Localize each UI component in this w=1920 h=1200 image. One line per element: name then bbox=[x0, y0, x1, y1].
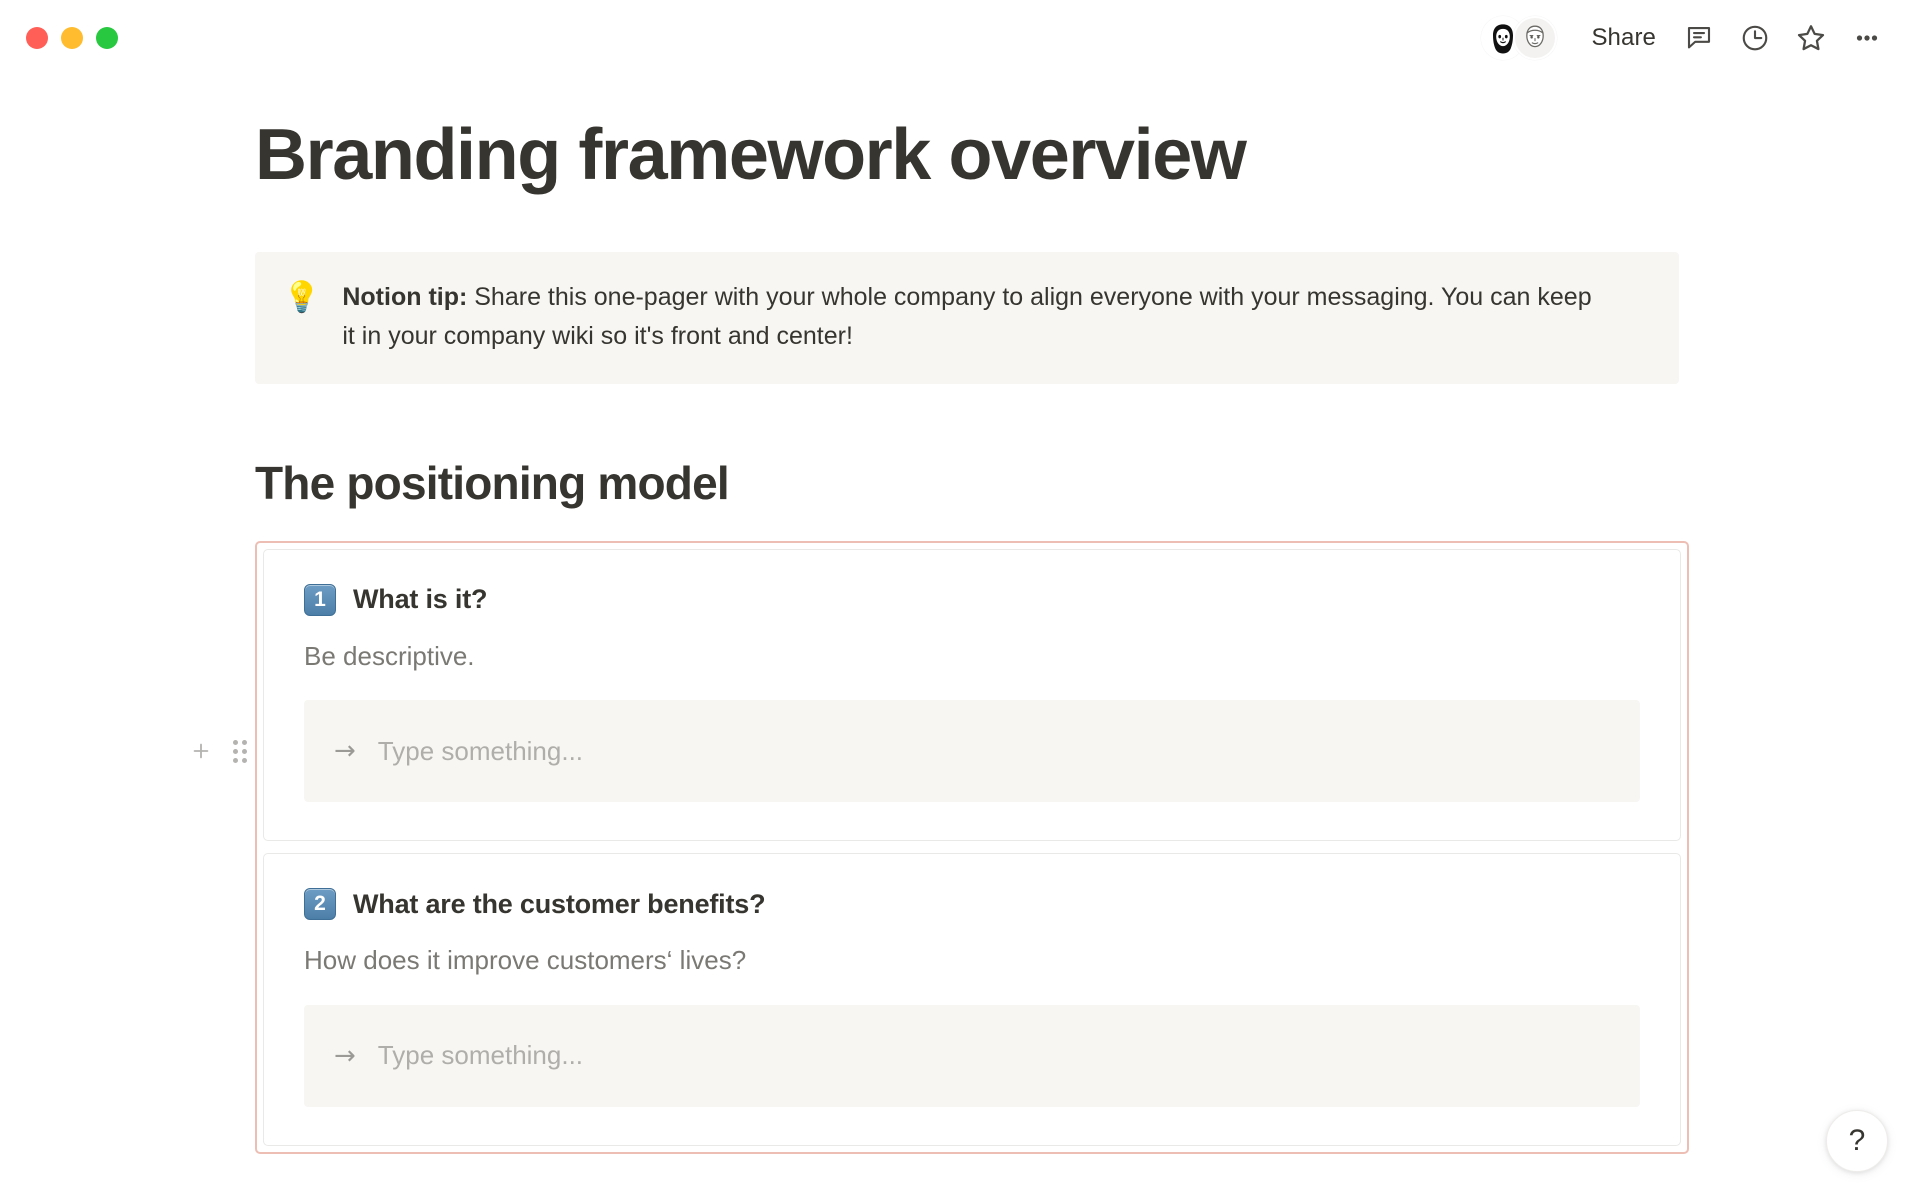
callout-block[interactable]: 💡 Notion tip: Share this one-pager with … bbox=[255, 252, 1679, 384]
document-content: Branding framework overview 💡 Notion tip… bbox=[255, 118, 1695, 1154]
lightbulb-icon: 💡 bbox=[283, 279, 320, 317]
more-icon[interactable] bbox=[1842, 16, 1892, 60]
collaborator-avatars[interactable] bbox=[1481, 16, 1557, 60]
title-bar-actions: Share bbox=[1481, 16, 1892, 60]
callout-lead: Notion tip: bbox=[342, 283, 467, 311]
add-block-button[interactable] bbox=[186, 736, 216, 766]
synced-block-container[interactable]: 1 What is it? Be descriptive. bbox=[255, 541, 1689, 1154]
help-button[interactable]: ? bbox=[1826, 1110, 1888, 1172]
question-subtitle[interactable]: How does it improve customers‘ lives? bbox=[304, 942, 1640, 978]
callout-body: Share this one-pager with your whole com… bbox=[342, 283, 1591, 350]
app-window: Share bbox=[0, 0, 1920, 1200]
history-icon[interactable] bbox=[1730, 16, 1780, 60]
comment-icon[interactable] bbox=[1674, 16, 1724, 60]
question-header: 1 What is it? bbox=[304, 584, 1640, 616]
section-heading[interactable]: The positioning model bbox=[255, 456, 1695, 511]
answer-placeholder[interactable]: Type something... bbox=[378, 736, 583, 767]
question-title[interactable]: What is it? bbox=[353, 584, 487, 615]
question-card[interactable]: 2 What are the customer benefits? How do… bbox=[263, 853, 1681, 1145]
question-title[interactable]: What are the customer benefits? bbox=[353, 889, 765, 920]
document-scroll-area[interactable]: Branding framework overview 💡 Notion tip… bbox=[0, 76, 1920, 1200]
title-bar: Share bbox=[0, 0, 1920, 76]
callout-text: Notion tip: Share this one-pager with yo… bbox=[342, 278, 1602, 356]
number-badge-icon: 1 bbox=[304, 584, 336, 616]
drag-handle-icon[interactable] bbox=[228, 736, 252, 766]
star-icon[interactable] bbox=[1786, 16, 1836, 60]
avatar-user-2[interactable] bbox=[1513, 16, 1557, 60]
number-badge-icon: 2 bbox=[304, 888, 336, 920]
window-close-button[interactable] bbox=[26, 27, 48, 49]
answer-placeholder[interactable]: Type something... bbox=[378, 1040, 583, 1071]
question-subtitle[interactable]: Be descriptive. bbox=[304, 638, 1640, 674]
question-header: 2 What are the customer benefits? bbox=[304, 888, 1640, 920]
window-traffic-lights bbox=[26, 27, 118, 49]
share-button[interactable]: Share bbox=[1579, 18, 1668, 58]
question-card[interactable]: 1 What is it? Be descriptive. bbox=[263, 549, 1681, 841]
window-minimize-button[interactable] bbox=[61, 27, 83, 49]
block-gutter-controls bbox=[186, 736, 252, 766]
arrow-right-icon: → bbox=[334, 738, 356, 764]
arrow-right-icon: → bbox=[334, 1043, 356, 1069]
answer-input[interactable]: → Type something... bbox=[304, 1005, 1640, 1107]
window-maximize-button[interactable] bbox=[96, 27, 118, 49]
answer-input[interactable]: → Type something... bbox=[304, 700, 1640, 802]
page-title[interactable]: Branding framework overview bbox=[255, 118, 1695, 194]
